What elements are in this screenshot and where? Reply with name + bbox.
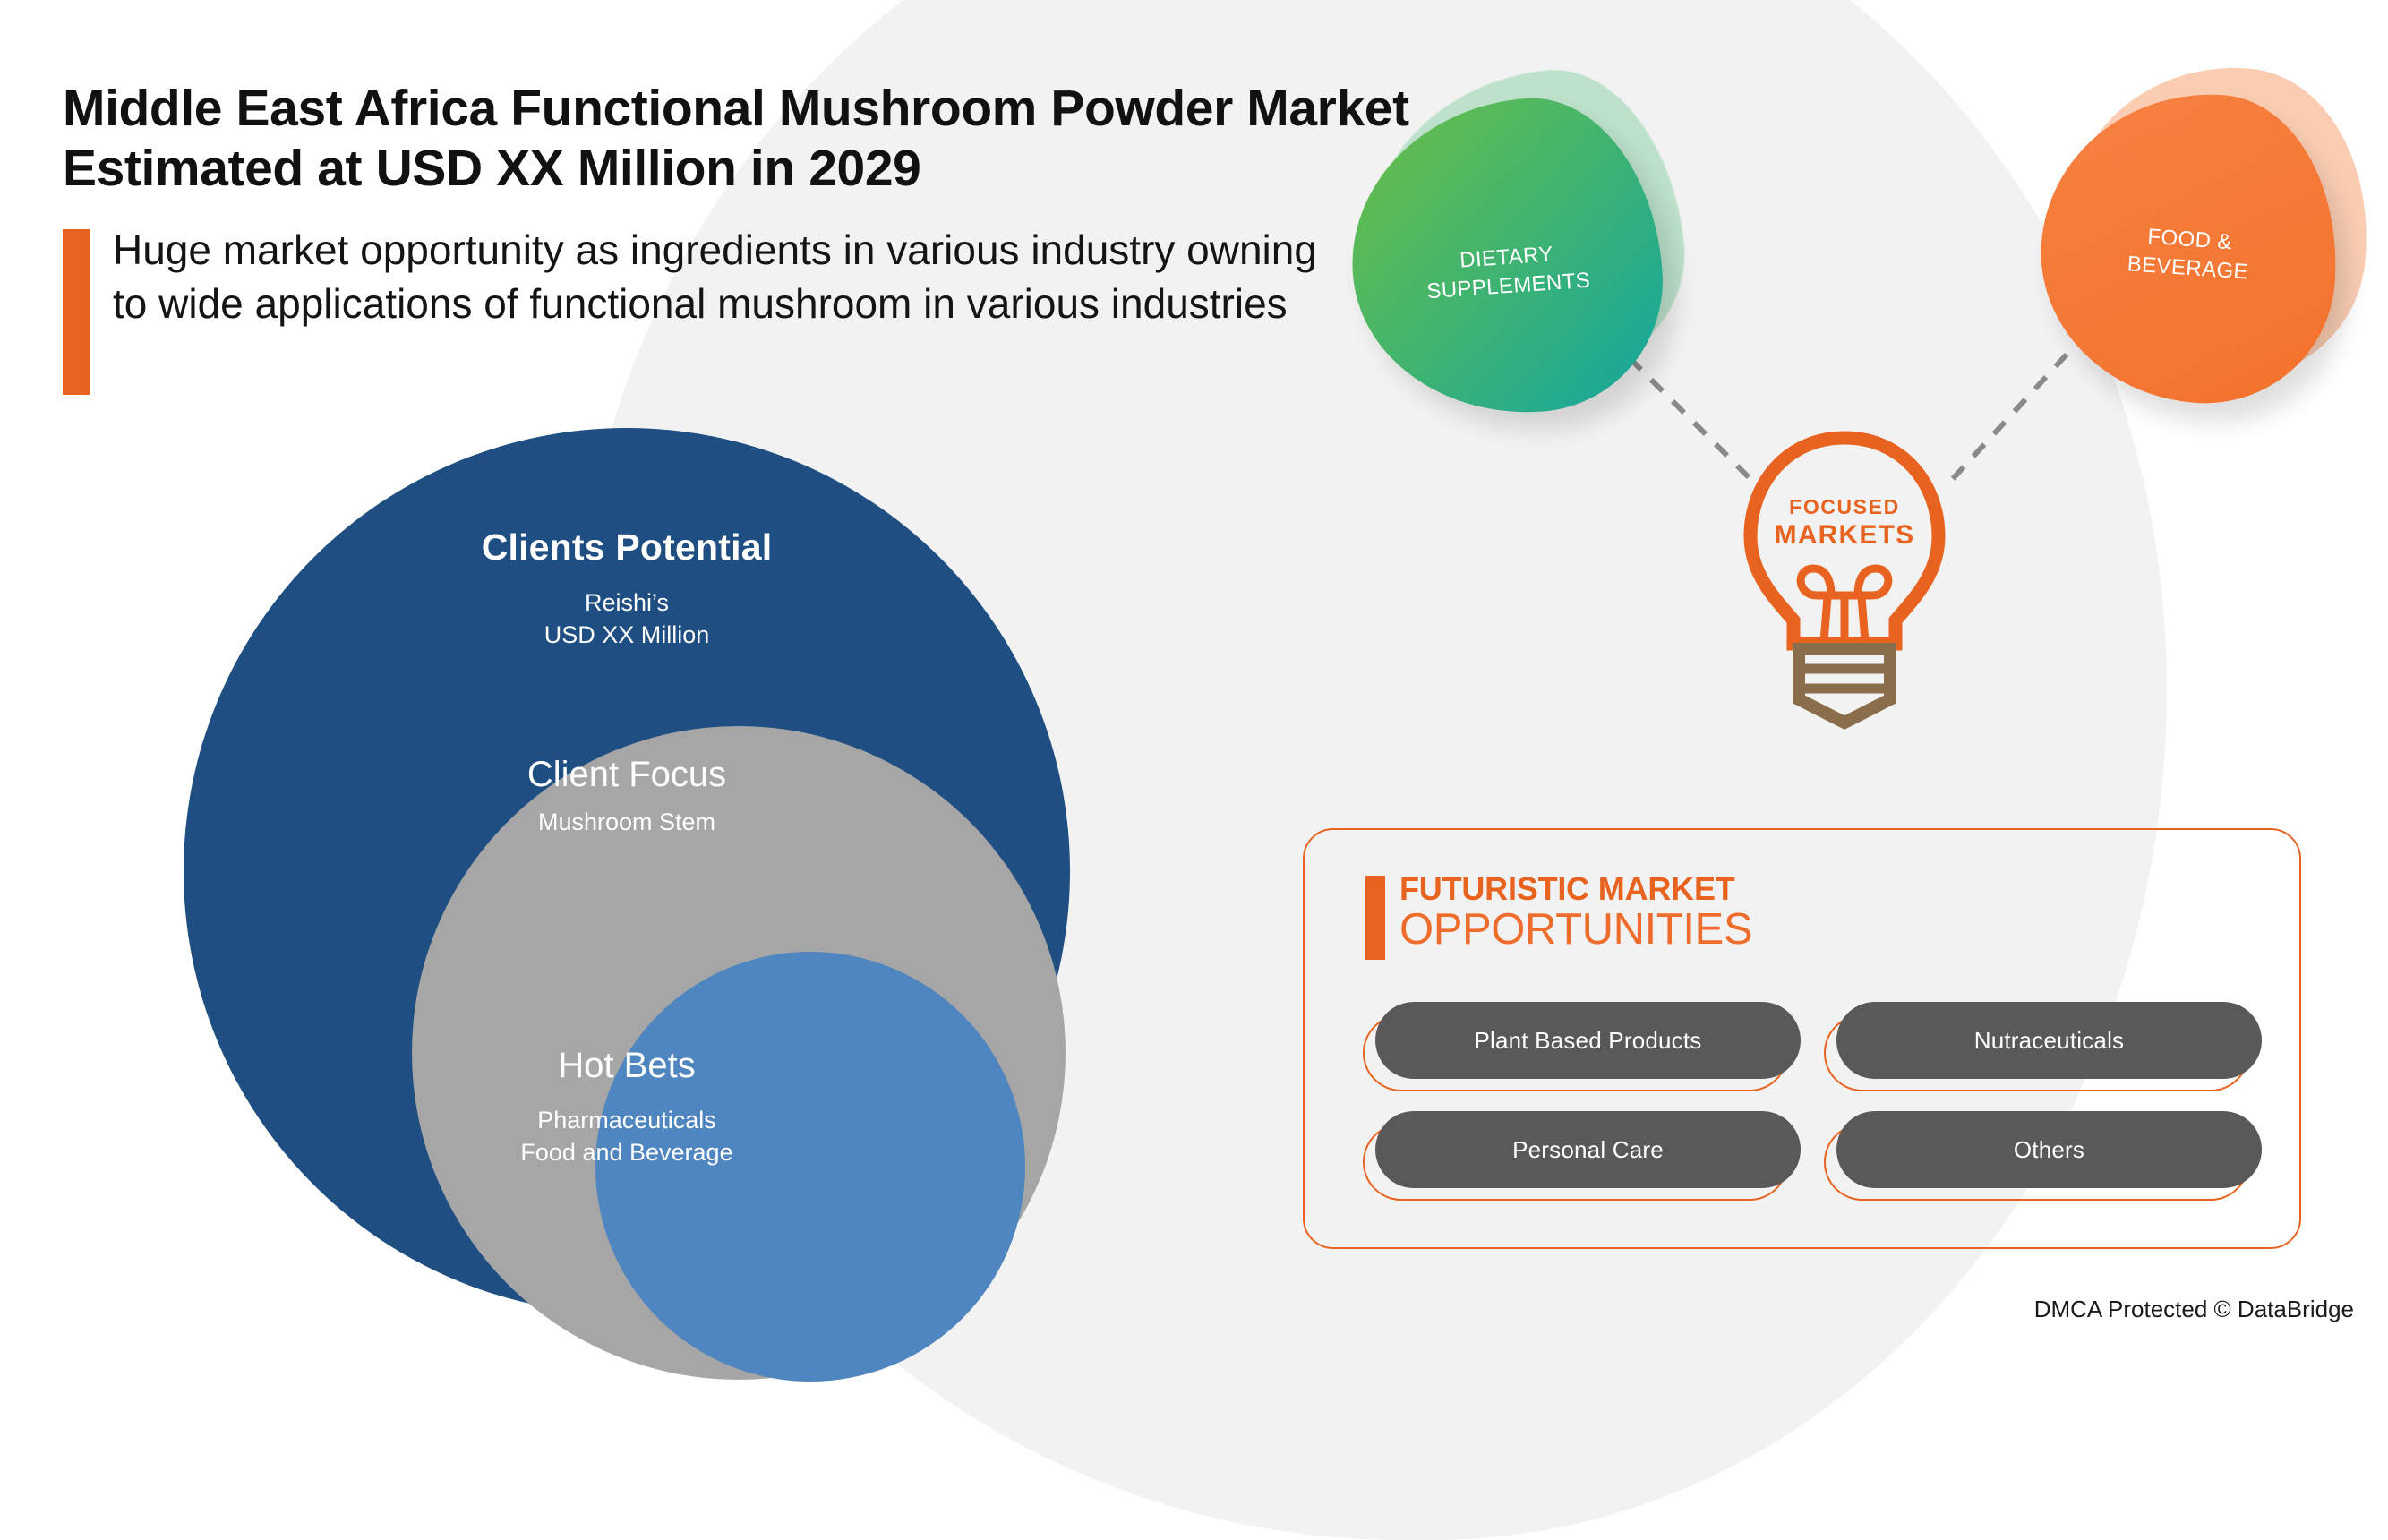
circle-middle-title: Client Focus	[184, 755, 1070, 795]
opportunity-pill-nutraceuticals[interactable]: Nutraceuticals	[1836, 1002, 2262, 1079]
nested-circles-diagram: Clients Potential Reishi’s USD XX Millio…	[184, 428, 1070, 1377]
circle-inner-title: Hot Bets	[184, 1046, 1070, 1086]
circle-outer-title: Clients Potential	[184, 526, 1070, 569]
circle-inner-subtitle: Pharmaceuticals Food and Beverage	[184, 1104, 1070, 1168]
opportunity-item: Personal Care	[1363, 1111, 1788, 1201]
opportunity-item: Nutraceuticals	[1824, 1002, 2249, 1091]
panel-header: FUTURISTIC MARKET OPPORTUNITIES	[1365, 873, 1752, 960]
lightbulb-label: FOCUSED MARKETS	[1724, 495, 1965, 551]
futuristic-opportunities-panel: FUTURISTIC MARKET OPPORTUNITIES Plant Ba…	[1303, 828, 2301, 1249]
page-title: Middle East Africa Functional Mushroom P…	[63, 79, 1513, 198]
circle-outer-subtitle: Reishi’s USD XX Million	[184, 587, 1070, 651]
circle-middle-subtitle: Mushroom Stem	[184, 808, 1070, 836]
subheadline-block: Huge market opportunity as ingredients i…	[63, 224, 1361, 395]
lightbulb-label-line1: FOCUSED	[1724, 495, 1965, 519]
panel-accent-bar	[1365, 876, 1385, 960]
lightbulb-label-line2: MARKETS	[1724, 520, 1965, 551]
opportunity-pill-grid: Plant Based Products Nutraceuticals Pers…	[1363, 1002, 2249, 1201]
accent-bar	[63, 229, 90, 395]
panel-title-group: FUTURISTIC MARKET OPPORTUNITIES	[1399, 873, 1752, 952]
opportunity-pill-personal-care[interactable]: Personal Care	[1375, 1111, 1801, 1188]
subheadline-text: Huge market opportunity as ingredients i…	[113, 224, 1361, 331]
opportunity-item: Plant Based Products	[1363, 1002, 1788, 1091]
opportunity-pill-others[interactable]: Others	[1836, 1111, 2262, 1188]
node-food-beverage-label: FOOD & BEVERAGE	[2040, 216, 2339, 294]
copyright-footer: DMCA Protected © DataBridge	[2034, 1296, 2354, 1323]
node-dietary-supplements-label: DIETARY SUPPLEMENTS	[1351, 233, 1664, 312]
opportunity-pill-plant-based-products[interactable]: Plant Based Products	[1375, 1002, 1801, 1079]
panel-title-line1: FUTURISTIC MARKET	[1399, 873, 1752, 905]
lightbulb-glyph	[1724, 425, 1965, 730]
opportunity-item: Others	[1824, 1111, 2249, 1201]
lightbulb-icon: FOCUSED MARKETS	[1724, 425, 1965, 730]
panel-title-line2: OPPORTUNITIES	[1399, 908, 1752, 952]
